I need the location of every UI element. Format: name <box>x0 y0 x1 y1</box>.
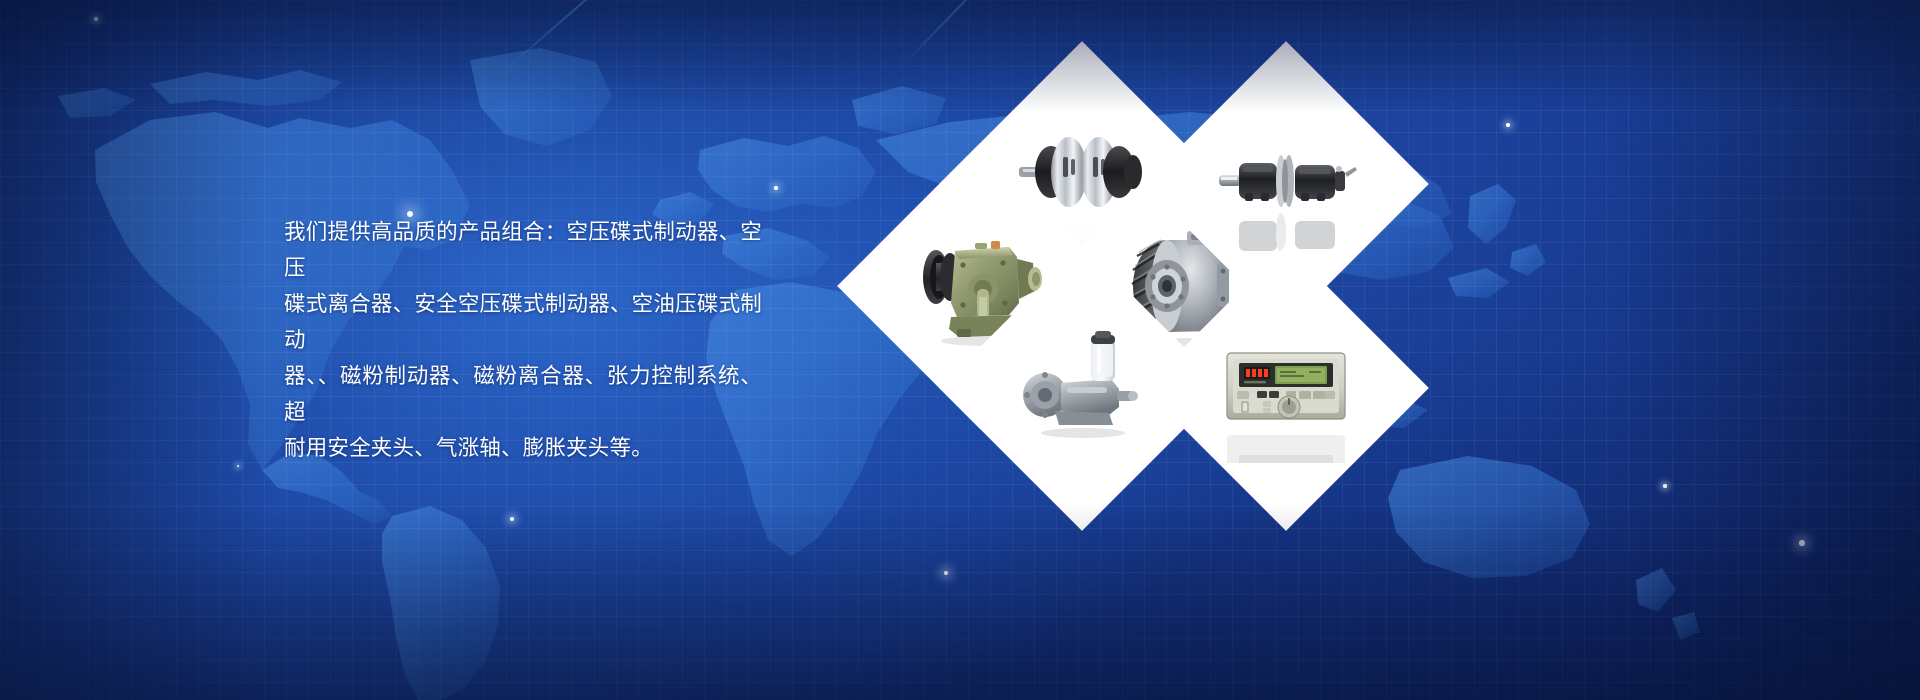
description-line: 碟式离合器、安全空压碟式制动器、空油压碟式制动 <box>284 286 762 358</box>
clutch-shaft-assembly-icon <box>1211 109 1361 259</box>
description-line: 耐用安全夹头、气涨轴、膨胀夹头等。 <box>284 430 762 466</box>
star-dot <box>1799 540 1804 545</box>
banner-description: 我们提供高品质的产品组合：空压碟式制动器、空压 碟式离合器、安全空压碟式制动器、… <box>284 214 762 466</box>
star-dot <box>774 186 778 190</box>
hero-banner: 我们提供高品质的产品组合：空压碟式制动器、空压 碟式离合器、安全空压碟式制动器、… <box>0 0 1920 700</box>
star-dot <box>94 17 97 20</box>
star-dot <box>1506 123 1510 127</box>
description-line: 器、、磁粉制动器、磁粉离合器、张力控制系统、超 <box>284 358 762 430</box>
product-diamond-gallery <box>880 132 1260 442</box>
tension-controller-icon <box>1211 313 1361 463</box>
star-dot <box>510 517 514 521</box>
description-line: 我们提供高品质的产品组合：空压碟式制动器、空压 <box>284 214 762 286</box>
star-dot <box>1663 484 1666 487</box>
hydraulic-master-cylinder-icon <box>1007 313 1157 463</box>
